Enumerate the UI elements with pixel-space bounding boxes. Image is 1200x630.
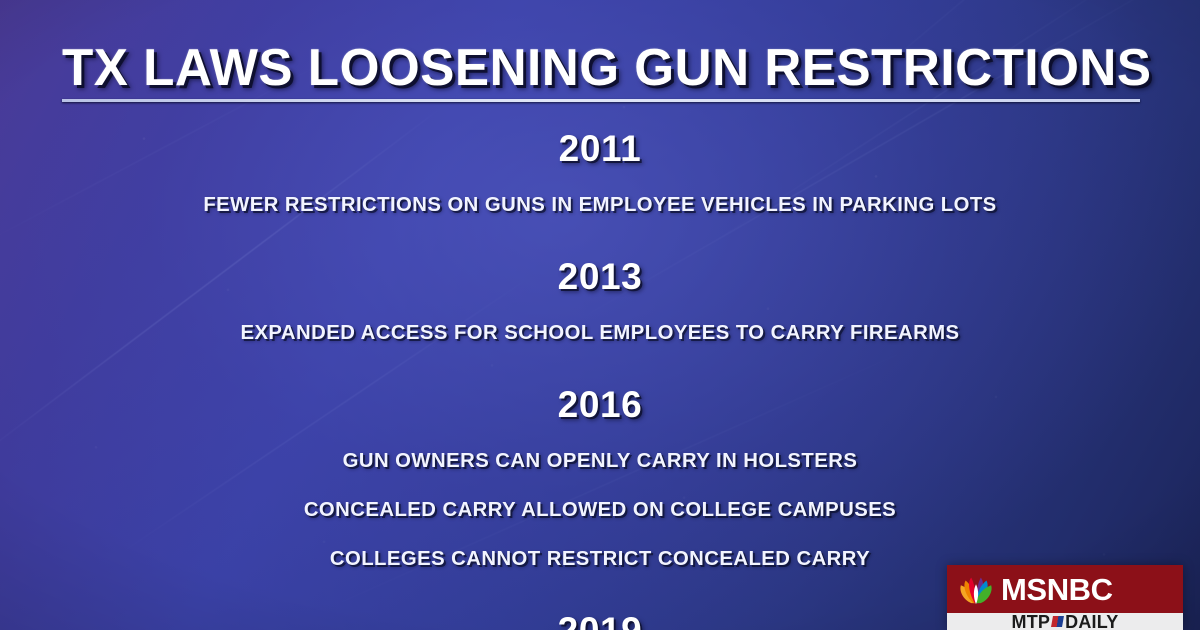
- show-name-bar: MTP DAILY: [947, 613, 1183, 630]
- timeline-group: 2016 GUN OWNERS CAN OPENLY CARRY IN HOLS…: [0, 382, 1200, 572]
- show-name-part2: DAILY: [1065, 613, 1118, 630]
- title-underline-rule: [62, 99, 1140, 102]
- timeline-item: GUN OWNERS CAN OPENLY CARRY IN HOLSTERS: [6, 447, 1194, 474]
- show-name: MTP DAILY: [1012, 613, 1119, 630]
- timeline-year: 2016: [0, 382, 1200, 427]
- show-name-part1: MTP: [1012, 613, 1051, 630]
- timeline-group: 2013 EXPANDED ACCESS FOR SCHOOL EMPLOYEE…: [0, 254, 1200, 346]
- timeline-list: 2011 FEWER RESTRICTIONS ON GUNS IN EMPLO…: [0, 126, 1200, 630]
- timeline-year: 2011: [0, 126, 1200, 171]
- timeline-year: 2013: [0, 254, 1200, 299]
- timeline-group: 2011 FEWER RESTRICTIONS ON GUNS IN EMPLO…: [0, 126, 1200, 218]
- broadcast-graphic: TX LAWS LOOSENING GUN RESTRICTIONS 2011 …: [0, 0, 1200, 630]
- nbc-peacock-icon: [957, 572, 995, 606]
- network-name: MSNBC: [1001, 574, 1113, 605]
- timeline-item: FEWER RESTRICTIONS ON GUNS IN EMPLOYEE V…: [6, 191, 1194, 218]
- msnbc-logo-bar: MSNBC: [947, 565, 1183, 613]
- show-name-separator-icon: [1051, 616, 1064, 627]
- timeline-item: CONCEALED CARRY ALLOWED ON COLLEGE CAMPU…: [6, 496, 1194, 523]
- timeline-item: EXPANDED ACCESS FOR SCHOOL EMPLOYEES TO …: [6, 319, 1194, 346]
- network-logo-bug: MSNBC MTP DAILY: [947, 565, 1183, 630]
- page-title: TX LAWS LOOSENING GUN RESTRICTIONS: [62, 40, 1124, 96]
